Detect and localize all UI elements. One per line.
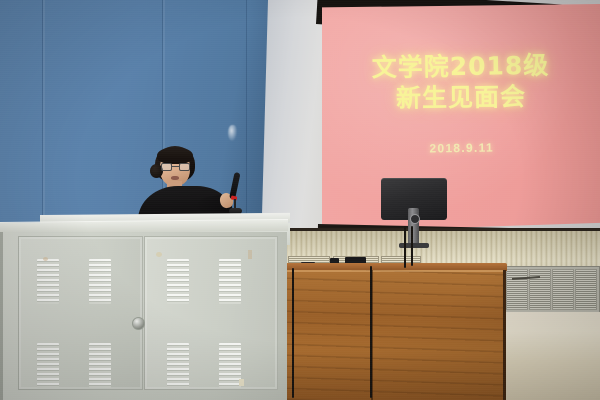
cabinet-door-right[interactable] [144, 236, 278, 390]
hanging-cable [370, 266, 372, 398]
cabinet-blemish [156, 252, 162, 257]
mouth [171, 176, 179, 180]
cabinet-louvre [89, 343, 111, 388]
cabinet-door-left[interactable] [18, 236, 143, 390]
monitor-cable [404, 226, 406, 268]
slide-title-line-1: 文学院2018级 [372, 51, 550, 84]
wooden-lectern-desk [283, 263, 507, 400]
cabinet-louvre [37, 259, 59, 304]
projection-screen: 文学院2018级 新生见面会 2018.9.11 [322, 0, 600, 236]
metal-cabinet [0, 222, 288, 400]
dell-logo-icon [410, 214, 420, 224]
glasses-icon [161, 163, 190, 171]
monitor-cable [411, 226, 413, 266]
vent-panel [575, 269, 597, 310]
hair-fringe [157, 147, 193, 164]
lecture-hall-photo: 文学院2018级 新生见面会 2018.9.11 [0, 0, 600, 400]
wall-vent [503, 266, 600, 313]
slide-date: 2018.9.11 [429, 141, 494, 156]
cabinet-louvre [167, 259, 189, 304]
cabinet-louvre [89, 259, 111, 304]
desk-highlight [285, 270, 503, 272]
vent-panel [506, 269, 528, 310]
hanging-cable [292, 268, 294, 398]
cabinet-louvre [37, 343, 59, 388]
cabinet-louvre [219, 343, 241, 388]
cabinet-lock-icon[interactable] [132, 317, 145, 330]
cabinet-blemish [43, 257, 48, 261]
desk-front-panel [285, 270, 506, 400]
vent-panel [552, 269, 574, 310]
slide-content: 文学院2018级 新生见面会 2018.9.11 [321, 0, 600, 202]
cabinet-blemish [248, 250, 252, 259]
cabinet-louvre [167, 343, 189, 388]
cabinet-louvre [219, 259, 241, 304]
cabinet-sticker [239, 379, 244, 386]
computer-monitor [381, 178, 447, 228]
wall-light-strip [261, 0, 330, 240]
vent-panel [529, 269, 551, 310]
slide-title-line-2: 新生见面会 [396, 82, 526, 114]
